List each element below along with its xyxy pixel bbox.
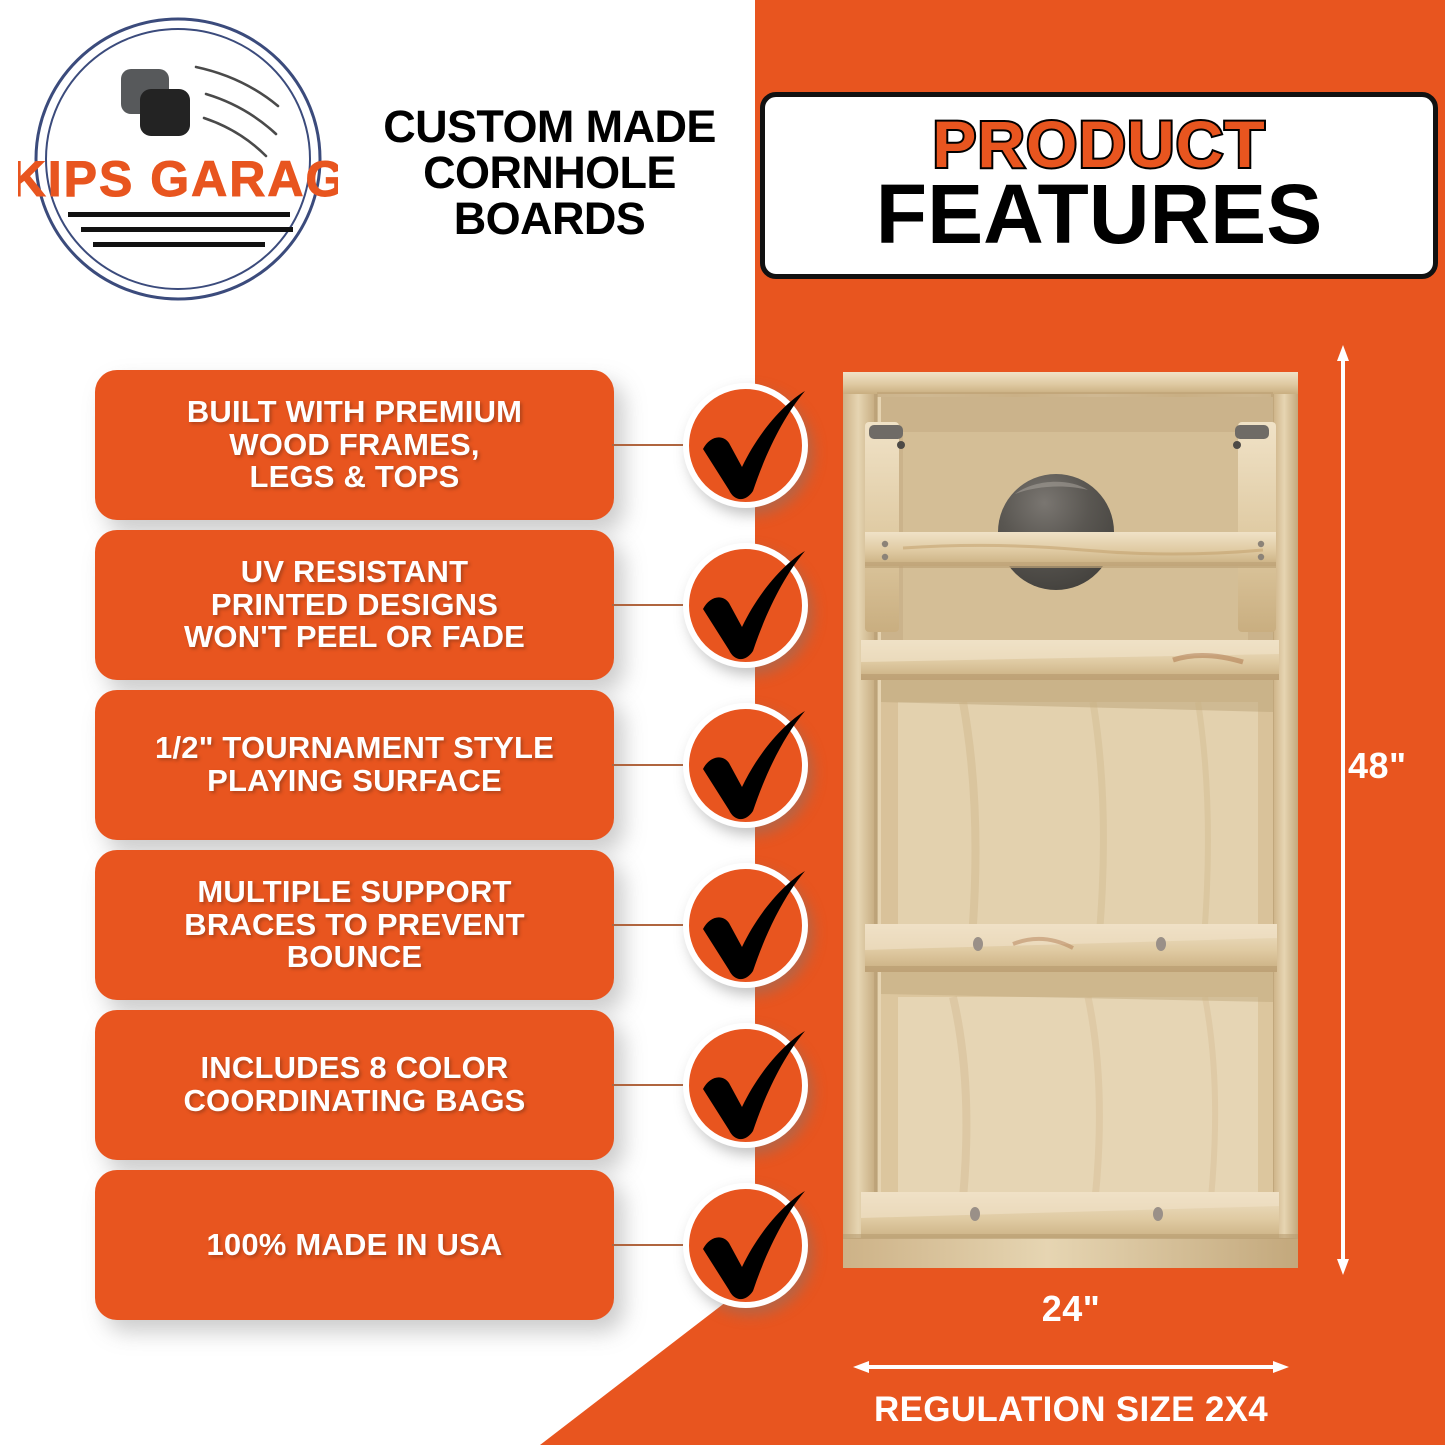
feature-pill-5-text: INCLUDES 8 COLOR COORDINATING BAGS <box>183 1052 525 1118</box>
feature-pill-5[interactable]: INCLUDES 8 COLOR COORDINATING BAGS <box>95 1010 614 1160</box>
product-features-banner: PRODUCT FEATURES <box>760 92 1438 279</box>
feature-pill-6-text: 100% MADE IN USA <box>206 1229 502 1262</box>
check-mark-icon <box>677 1015 822 1160</box>
check-badge-6 <box>683 1183 808 1308</box>
check-mark-icon <box>677 535 822 680</box>
banner-features-word: FEATURES <box>876 176 1322 253</box>
feature-pill-4-text: MULTIPLE SUPPORT BRACES TO PREVENT BOUNC… <box>184 876 524 975</box>
check-mark-icon <box>677 1175 822 1320</box>
check-badge-2 <box>683 543 808 668</box>
feature-pill-3-text: 1/2" TOURNAMENT STYLE PLAYING SURFACE <box>155 732 554 798</box>
feature-row-1: BUILT WITH PREMIUM WOOD FRAMES, LEGS & T… <box>0 370 830 520</box>
feature-pill-1[interactable]: BUILT WITH PREMIUM WOOD FRAMES, LEGS & T… <box>95 370 614 520</box>
banner-product-word: PRODUCT <box>932 114 1265 175</box>
regulation-size-note: REGULATION SIZE 2X4 <box>833 1390 1309 1430</box>
height-dimension-label: 48" <box>1348 745 1407 787</box>
page-title: CUSTOM MADE CORNHOLE BOARDS <box>352 104 747 242</box>
feature-pill-2[interactable]: UV RESISTANT PRINTED DESIGNS WON'T PEEL … <box>95 530 614 680</box>
feature-row-4: MULTIPLE SUPPORT BRACES TO PREVENT BOUNC… <box>0 850 830 1000</box>
check-badge-1 <box>683 383 808 508</box>
feature-row-2: UV RESISTANT PRINTED DESIGNS WON'T PEEL … <box>0 530 830 680</box>
feature-row-5: INCLUDES 8 COLOR COORDINATING BAGS <box>0 1010 830 1160</box>
brand-logo: SKIPS GARAGE <box>18 14 338 304</box>
feature-pill-4[interactable]: MULTIPLE SUPPORT BRACES TO PREVENT BOUNC… <box>95 850 614 1000</box>
check-badge-3 <box>683 703 808 828</box>
headline-line-1: CUSTOM MADE <box>352 104 747 150</box>
check-badge-5 <box>683 1023 808 1148</box>
headline-line-3: BOARDS <box>352 196 747 242</box>
feature-row-6: 100% MADE IN USA <box>0 1170 830 1320</box>
width-dimension-arrow <box>853 1360 1289 1374</box>
headline-line-2: CORNHOLE <box>352 150 747 196</box>
product-photo <box>843 372 1298 1268</box>
feature-pill-3[interactable]: 1/2" TOURNAMENT STYLE PLAYING SURFACE <box>95 690 614 840</box>
feature-row-3: 1/2" TOURNAMENT STYLE PLAYING SURFACE <box>0 690 830 840</box>
check-mark-icon <box>677 855 822 1000</box>
check-mark-icon <box>677 375 822 520</box>
height-dimension-arrow <box>1336 345 1350 1275</box>
check-mark-icon <box>677 695 822 840</box>
check-badge-4 <box>683 863 808 988</box>
feature-pill-2-text: UV RESISTANT PRINTED DESIGNS WON'T PEEL … <box>184 556 525 655</box>
width-dimension-label: 24" <box>853 1288 1289 1330</box>
feature-pill-6[interactable]: 100% MADE IN USA <box>95 1170 614 1320</box>
product-infographic: SKIPS GARAGE CUSTOM MADE CORNHOLE BOARDS… <box>0 0 1445 1445</box>
svg-text:SKIPS GARAGE: SKIPS GARAGE <box>18 151 338 207</box>
feature-pill-1-text: BUILT WITH PREMIUM WOOD FRAMES, LEGS & T… <box>187 396 522 495</box>
